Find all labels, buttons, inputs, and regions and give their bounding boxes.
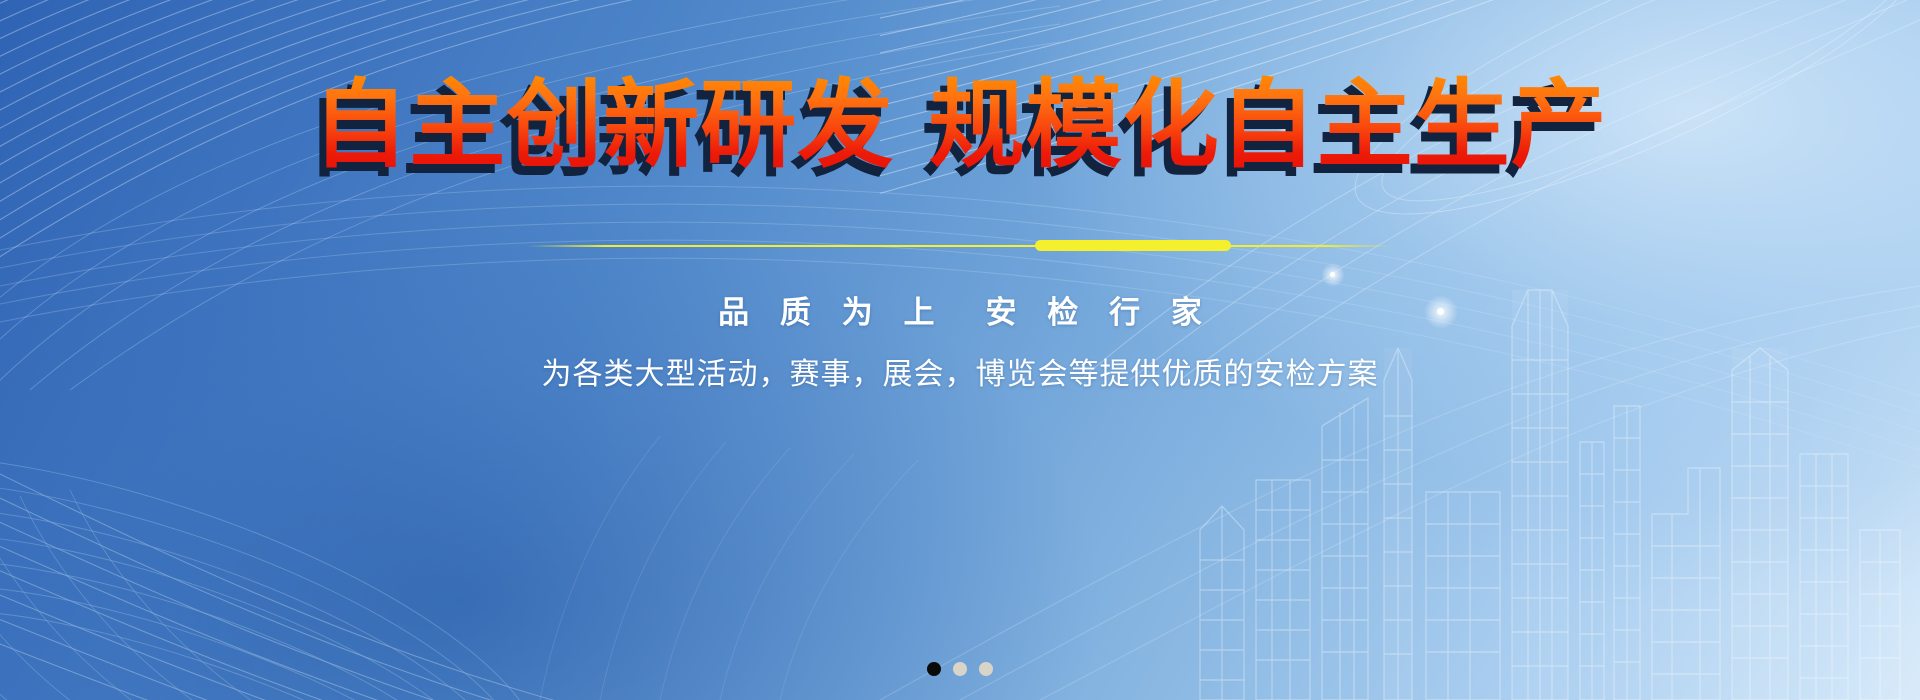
carousel-dot-3[interactable] bbox=[979, 662, 993, 676]
slogan-secondary-text: 为各类大型活动，赛事，展会，博览会等提供优质的安检方案 bbox=[542, 355, 1379, 396]
carousel-dot-1[interactable] bbox=[927, 662, 941, 676]
yellow-divider bbox=[527, 239, 1393, 253]
hero-banner: 自主创新研发 规模化自主生产 自主创新研发 规模化自主生产 品 质 为 上 安 … bbox=[0, 0, 1920, 700]
carousel-dots[interactable] bbox=[927, 662, 993, 676]
banner-slogan-block: 品 质 为 上 安 检 行 家 为各类大型活动，赛事，展会，博览会等提供优质的安… bbox=[542, 293, 1379, 396]
banner-headline-text: 自主创新研发 规模化自主生产 bbox=[0, 74, 1920, 178]
divider-highlight-segment bbox=[1035, 240, 1231, 251]
divider-line bbox=[527, 245, 1393, 247]
banner-content: 自主创新研发 规模化自主生产 自主创新研发 规模化自主生产 品 质 为 上 安 … bbox=[0, 0, 1920, 700]
carousel-dot-2[interactable] bbox=[953, 662, 967, 676]
slogan-primary-text: 品 质 为 上 安 检 行 家 bbox=[542, 293, 1379, 333]
banner-headline: 自主创新研发 规模化自主生产 自主创新研发 规模化自主生产 bbox=[0, 74, 1920, 184]
